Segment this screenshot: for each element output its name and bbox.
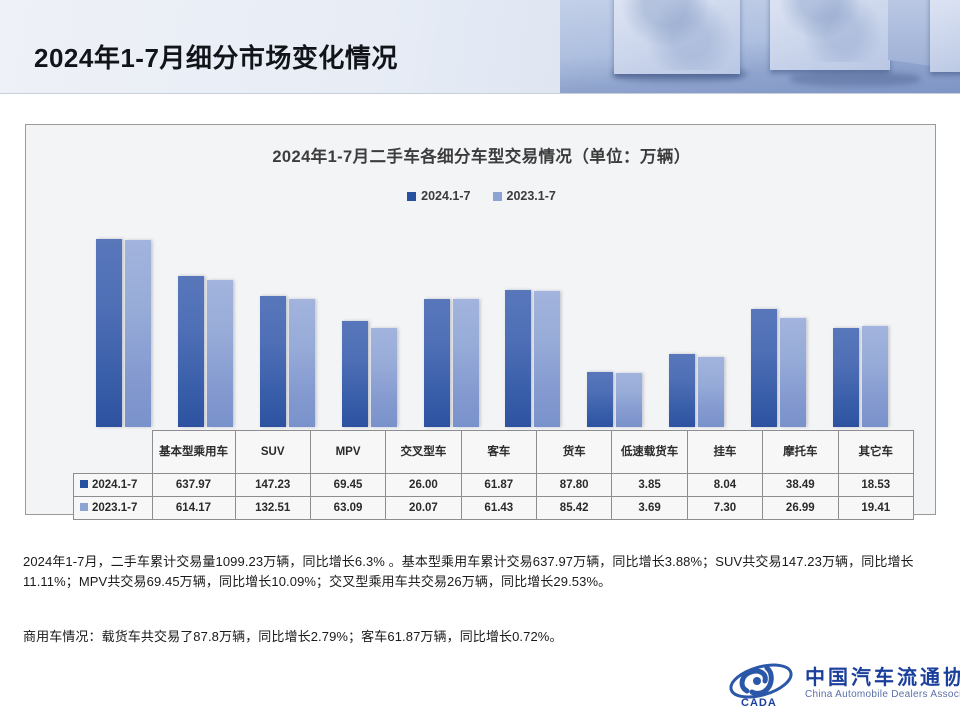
table-cell: 61.87 (461, 474, 536, 497)
table-cell: 3.69 (612, 497, 687, 520)
bar-chart-plot (83, 221, 901, 427)
table-corner-cell (74, 431, 153, 474)
bar-2023 (207, 280, 233, 427)
bar-2023 (698, 357, 724, 427)
bar-group (656, 221, 738, 427)
table-header-row: 基本型乘用车SUVMPV交叉型车客车货车低速载货车挂车摩托车其它车 (74, 431, 914, 474)
bar-2024 (178, 276, 204, 427)
bar-2023 (371, 328, 397, 427)
bar-2023 (534, 291, 560, 427)
bar-group (492, 221, 574, 427)
chart-legend: 2024.1-7 2023.1-7 (26, 189, 937, 203)
bar-2023 (125, 240, 151, 427)
chart-title: 2024年1-7月二手车各细分车型交易情况（单位：万辆） (26, 143, 937, 167)
bar-2023 (453, 299, 479, 427)
table-row-label-text: 2023.1-7 (92, 502, 137, 514)
bar-2024 (505, 290, 531, 427)
bar-group (328, 221, 410, 427)
table-row-label: 2023.1-7 (74, 497, 153, 520)
summary-paragraph-2: 商用车情况：载货车共交易了87.8万辆，同比增长2.79%；客车61.87万辆，… (23, 627, 939, 647)
table-column-header: 客车 (461, 431, 536, 474)
header-divider (0, 93, 960, 94)
table-column-header: 挂车 (687, 431, 762, 474)
bar-2024 (587, 372, 613, 427)
bar-2024 (751, 309, 777, 427)
table-cell: 87.80 (537, 474, 612, 497)
decorative-cube (770, 0, 940, 80)
table-column-header: SUV (235, 431, 310, 474)
chart-panel: 2024年1-7月二手车各细分车型交易情况（单位：万辆） 2024.1-7 20… (25, 124, 936, 515)
table-column-header: 交叉型车 (386, 431, 461, 474)
bar-2024 (260, 296, 286, 427)
table-column-header: 其它车 (838, 431, 914, 474)
legend-label-2023: 2023.1-7 (507, 189, 556, 203)
table-cell: 8.04 (687, 474, 762, 497)
table-cell: 18.53 (838, 474, 914, 497)
legend-item-2024: 2024.1-7 (407, 189, 470, 203)
table-column-header: MPV (310, 431, 385, 474)
bar-2024 (833, 328, 859, 427)
table-cell: 85.42 (537, 497, 612, 520)
bar-2024 (424, 299, 450, 427)
cada-emblem-icon: CADA (727, 661, 799, 709)
table-cell: 38.49 (763, 474, 838, 497)
bar-2024 (96, 239, 122, 427)
table-cell: 7.30 (687, 497, 762, 520)
table-cell: 26.00 (386, 474, 461, 497)
legend-label-2024: 2024.1-7 (421, 189, 470, 203)
table-row-label-text: 2024.1-7 (92, 479, 137, 491)
decorative-cube (614, 0, 744, 76)
bar-2024 (342, 321, 368, 427)
svg-text:CADA: CADA (741, 697, 777, 709)
bar-2023 (289, 299, 315, 427)
table-cell: 3.85 (612, 474, 687, 497)
table-column-header: 低速载货车 (612, 431, 687, 474)
bar-2023 (862, 326, 888, 427)
table-column-header: 货车 (537, 431, 612, 474)
page-title: 2024年1-7月细分市场变化情况 (34, 38, 398, 75)
bar-2024 (669, 354, 695, 427)
bar-group (574, 221, 656, 427)
decorative-cube (930, 0, 960, 74)
bar-2023 (780, 318, 806, 427)
table-cell: 63.09 (310, 497, 385, 520)
table-cell: 19.41 (838, 497, 914, 520)
summary-paragraph-1: 2024年1-7月，二手车累计交易量1099.23万辆，同比增长6.3% 。基本… (23, 552, 939, 592)
table-cell: 132.51 (235, 497, 310, 520)
table-row-swatch (80, 480, 88, 488)
table-cell: 147.23 (235, 474, 310, 497)
legend-swatch-2024 (407, 192, 416, 201)
table-row-label: 2024.1-7 (74, 474, 153, 497)
table-row-swatch (80, 503, 88, 511)
table-cell: 20.07 (386, 497, 461, 520)
table-row: 2024.1-7637.97147.2369.4526.0061.8787.80… (74, 474, 914, 497)
table-cell: 69.45 (310, 474, 385, 497)
bar-group (247, 221, 329, 427)
logo-english-name: China Automobile Dealers Association (805, 689, 960, 700)
table-cell: 637.97 (152, 474, 235, 497)
bar-group (737, 221, 819, 427)
data-table: 基本型乘用车SUVMPV交叉型车客车货车低速载货车挂车摩托车其它车 2024.1… (73, 430, 914, 520)
bar-2023 (616, 373, 642, 427)
legend-swatch-2023 (493, 192, 502, 201)
table-column-header: 基本型乘用车 (152, 431, 235, 474)
bar-group (165, 221, 247, 427)
logo-chinese-name: 中国汽车流通协会 (805, 661, 960, 690)
legend-item-2023: 2023.1-7 (493, 189, 556, 203)
table-column-header: 摩托车 (763, 431, 838, 474)
table-cell: 61.43 (461, 497, 536, 520)
table-cell: 614.17 (152, 497, 235, 520)
header-banner: 2024年1-7月细分市场变化情况 (0, 0, 960, 94)
organization-logo: CADA 中国汽车流通协会 China Automobile Dealers A… (727, 659, 942, 713)
table-row: 2023.1-7614.17132.5163.0920.0761.4385.42… (74, 497, 914, 520)
table-cell: 26.99 (763, 497, 838, 520)
bar-group (410, 221, 492, 427)
bar-group (83, 221, 165, 427)
bar-group (819, 221, 901, 427)
